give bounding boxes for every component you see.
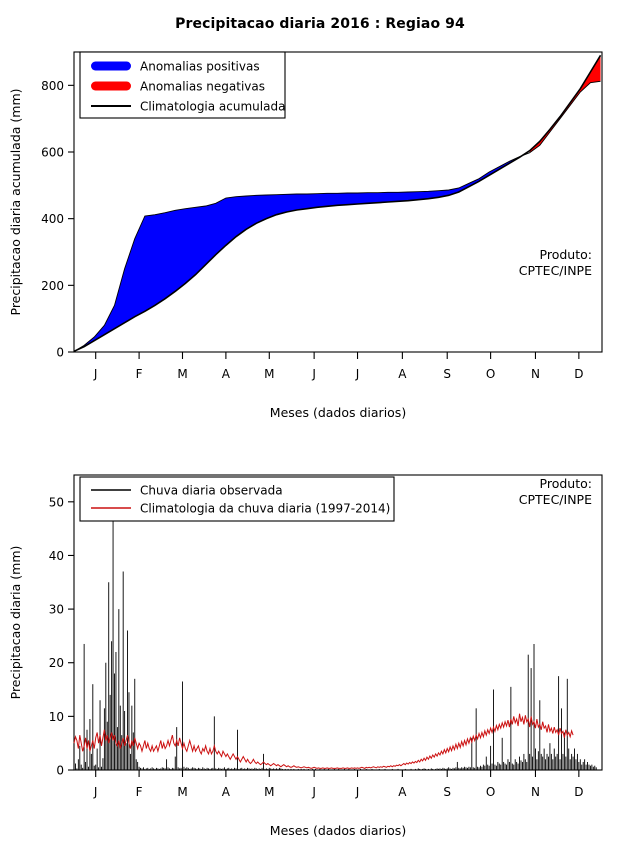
x-axis-tick-label-5: J	[311, 367, 316, 381]
x-axis-tick-label-8: S	[443, 367, 451, 381]
x-axis-tick-label-1: F	[136, 785, 143, 799]
y-axis-tick-label-4: 800	[41, 79, 64, 93]
legend-label-0: Chuva diaria observada	[140, 484, 283, 498]
x-axis-tick-label-9: O	[486, 367, 495, 381]
x-axis-tick-label-3: A	[222, 785, 231, 799]
produto-label-line1: Produto:	[540, 476, 592, 491]
x-axis-tick-label-6: J	[355, 367, 360, 381]
negative-anomaly-area	[530, 55, 601, 152]
x-axis-tick-label-1: F	[136, 367, 143, 381]
legend-label-1: Anomalias negativas	[140, 80, 265, 94]
produto-label-line1: Produto:	[540, 247, 592, 262]
legend-label-1: Climatologia da chuva diaria (1997-2014)	[140, 502, 390, 516]
positive-anomaly-area	[74, 157, 520, 352]
legend-swatch-1	[91, 82, 131, 91]
x-axis-tick-label-0: J	[93, 785, 98, 799]
x-axis-tick-label-11: D	[574, 785, 583, 799]
x-axis-tick-label-0: J	[93, 367, 98, 381]
daily-precipitation-chart: 01020304050JFMAMJJASONDPrecipitacao diar…	[0, 440, 640, 850]
y-axis-tick-label-3: 600	[41, 146, 64, 160]
x-axis-tick-label-4: M	[264, 785, 274, 799]
climatology-daily-line	[74, 714, 573, 769]
y-axis-title: Precipitacao diaria acumulada (mm)	[8, 88, 23, 315]
legend-label-2: Climatologia acumulada	[140, 100, 285, 114]
x-axis-tick-label-10: N	[531, 785, 540, 799]
x-axis-tick-label-8: S	[443, 785, 451, 799]
x-axis-title: Meses (dados diarios)	[270, 823, 406, 838]
x-axis-tick-label-2: M	[177, 785, 187, 799]
legend-label-0: Anomalias positivas	[140, 60, 260, 74]
top-chart-canvas: 0200400600800JFMAMJJASONDPrecipitacao di…	[0, 0, 640, 440]
x-axis-tick-label-3: A	[222, 367, 231, 381]
y-axis-title: Precipitacao diaria (mm)	[8, 546, 23, 700]
y-axis-tick-label-2: 20	[49, 656, 64, 670]
x-axis-tick-label-10: N	[531, 367, 540, 381]
top-chart-svg: 0200400600800JFMAMJJASONDPrecipitacao di…	[0, 0, 640, 440]
x-axis-tick-label-7: A	[398, 367, 407, 381]
y-axis-tick-label-3: 30	[49, 603, 64, 617]
bottom-chart-canvas: 01020304050JFMAMJJASONDPrecipitacao diar…	[0, 440, 640, 850]
y-axis-tick-label-4: 40	[49, 549, 64, 563]
produto-label-line2: CPTEC/INPE	[519, 492, 592, 507]
x-axis-tick-label-5: J	[311, 785, 316, 799]
y-axis-tick-label-1: 200	[41, 279, 64, 293]
x-axis-tick-label-2: M	[177, 367, 187, 381]
accumulated-precipitation-chart: Precipitacao diaria 2016 : Regiao 94 020…	[0, 0, 640, 440]
observed-daily-bars	[74, 496, 596, 770]
bottom-chart-svg: 01020304050JFMAMJJASONDPrecipitacao diar…	[0, 440, 640, 850]
produto-label-line2: CPTEC/INPE	[519, 263, 592, 278]
x-axis-title: Meses (dados diarios)	[270, 405, 406, 420]
x-axis-tick-label-9: O	[486, 785, 495, 799]
y-axis-tick-label-0: 0	[56, 764, 64, 778]
x-axis-tick-label-7: A	[398, 785, 407, 799]
screenshot-root: Precipitacao diaria 2016 : Regiao 94 020…	[0, 0, 640, 850]
y-axis-tick-label-5: 50	[49, 495, 64, 509]
y-axis-tick-label-0: 0	[56, 346, 64, 360]
x-axis-tick-label-4: M	[264, 367, 274, 381]
y-axis-tick-label-1: 10	[49, 710, 64, 724]
legend-swatch-0	[91, 62, 131, 71]
x-axis-tick-label-11: D	[574, 367, 583, 381]
y-axis-tick-label-2: 400	[41, 212, 64, 226]
x-axis-tick-label-6: J	[355, 785, 360, 799]
